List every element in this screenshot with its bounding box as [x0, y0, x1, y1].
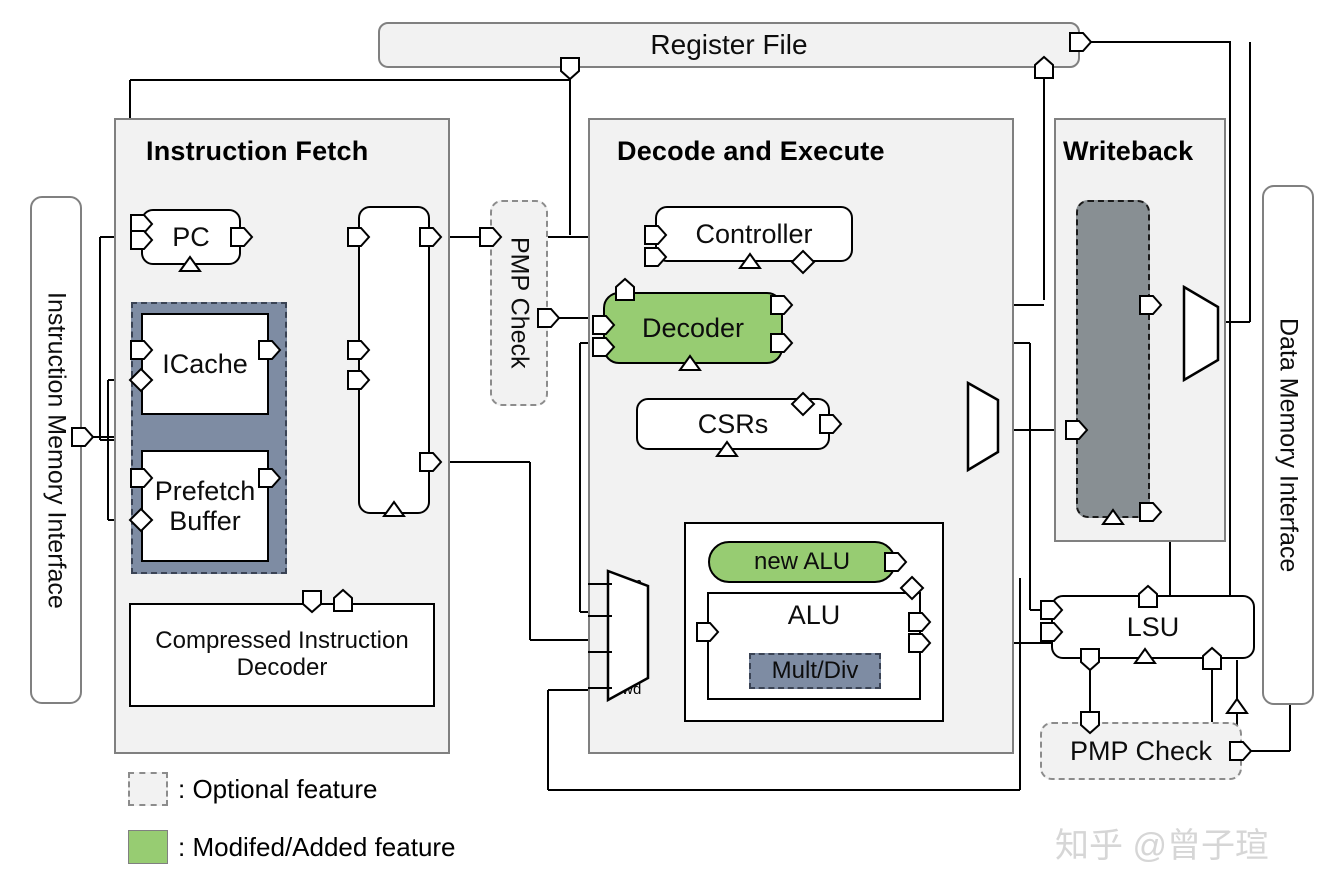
operand-mux-label-imm: Imm [613, 575, 642, 592]
fetch-pipeline-register [358, 206, 430, 514]
operand-mux-label-reg: Reg [613, 607, 641, 624]
instruction-memory-interface-label: Instruction Memory Interface [42, 292, 71, 609]
pmp-check-fetch: PMP Check [490, 200, 548, 406]
data-memory-interface: Data Memory Interface [1262, 185, 1314, 705]
instruction-memory-interface: Instruction Memory Interface [30, 196, 82, 704]
controller-label: Controller [695, 219, 812, 250]
decoder: Decoder [603, 292, 783, 364]
controller: Controller [655, 206, 853, 262]
stage-decode-execute-title: Decode and Execute [617, 136, 885, 167]
pc-label: PC [172, 222, 210, 253]
new-alu: new ALU [708, 541, 896, 583]
icache-label: ICache [162, 349, 248, 380]
writeback-pipeline-register [1076, 200, 1150, 518]
prefetch-buffer-label-line2: Buffer [169, 506, 241, 536]
legend-item-optional: : Optional feature [128, 772, 377, 806]
pmp-check-data: PMP Check [1040, 722, 1242, 780]
compressed-instruction-decoder-label-line2: Decoder [237, 655, 328, 682]
prefetch-buffer-label-line1: Prefetch [155, 476, 256, 506]
csrs: CSRs [636, 398, 830, 450]
prefetch-buffer: Prefetch Buffer [141, 450, 269, 562]
mult-div-label: Mult/Div [772, 657, 859, 685]
legend-item-modified: : Modifed/Added feature [128, 830, 456, 864]
compressed-instruction-decoder: Compressed Instruction Decoder [129, 603, 435, 707]
lsu: LSU [1051, 595, 1255, 659]
mult-div: Mult/Div [749, 653, 881, 689]
pc-register: PC [141, 209, 241, 265]
stage-writeback-title: Writeback [1063, 136, 1193, 167]
watermark: 知乎 @曾子瑄 [1055, 818, 1269, 867]
new-alu-label: new ALU [754, 548, 850, 576]
operand-mux-label-pc: PC [615, 645, 636, 662]
pmp-check-fetch-label: PMP Check [505, 237, 534, 369]
operand-mux-label-fwd: Fwd [613, 681, 641, 698]
register-file-label: Register File [650, 29, 807, 61]
legend-label-optional: : Optional feature [178, 774, 377, 805]
alu-label: ALU [788, 600, 841, 631]
legend-swatch-modified [128, 830, 168, 864]
icache: ICache [141, 313, 269, 415]
diagram-canvas: .w { fill: none; stroke: #000000; stroke… [0, 0, 1344, 884]
csrs-label: CSRs [698, 409, 769, 440]
compressed-instruction-decoder-label-line1: Compressed Instruction [155, 628, 408, 655]
legend-swatch-optional [128, 772, 168, 806]
lsu-label: LSU [1127, 612, 1180, 643]
pmp-check-data-label: PMP Check [1070, 736, 1212, 767]
decoder-label: Decoder [642, 313, 744, 344]
data-memory-interface-label: Data Memory Interface [1274, 318, 1303, 572]
stage-instruction-fetch-title: Instruction Fetch [146, 136, 368, 167]
legend-label-modified: : Modifed/Added feature [178, 832, 456, 863]
register-file: Register File [378, 22, 1080, 68]
